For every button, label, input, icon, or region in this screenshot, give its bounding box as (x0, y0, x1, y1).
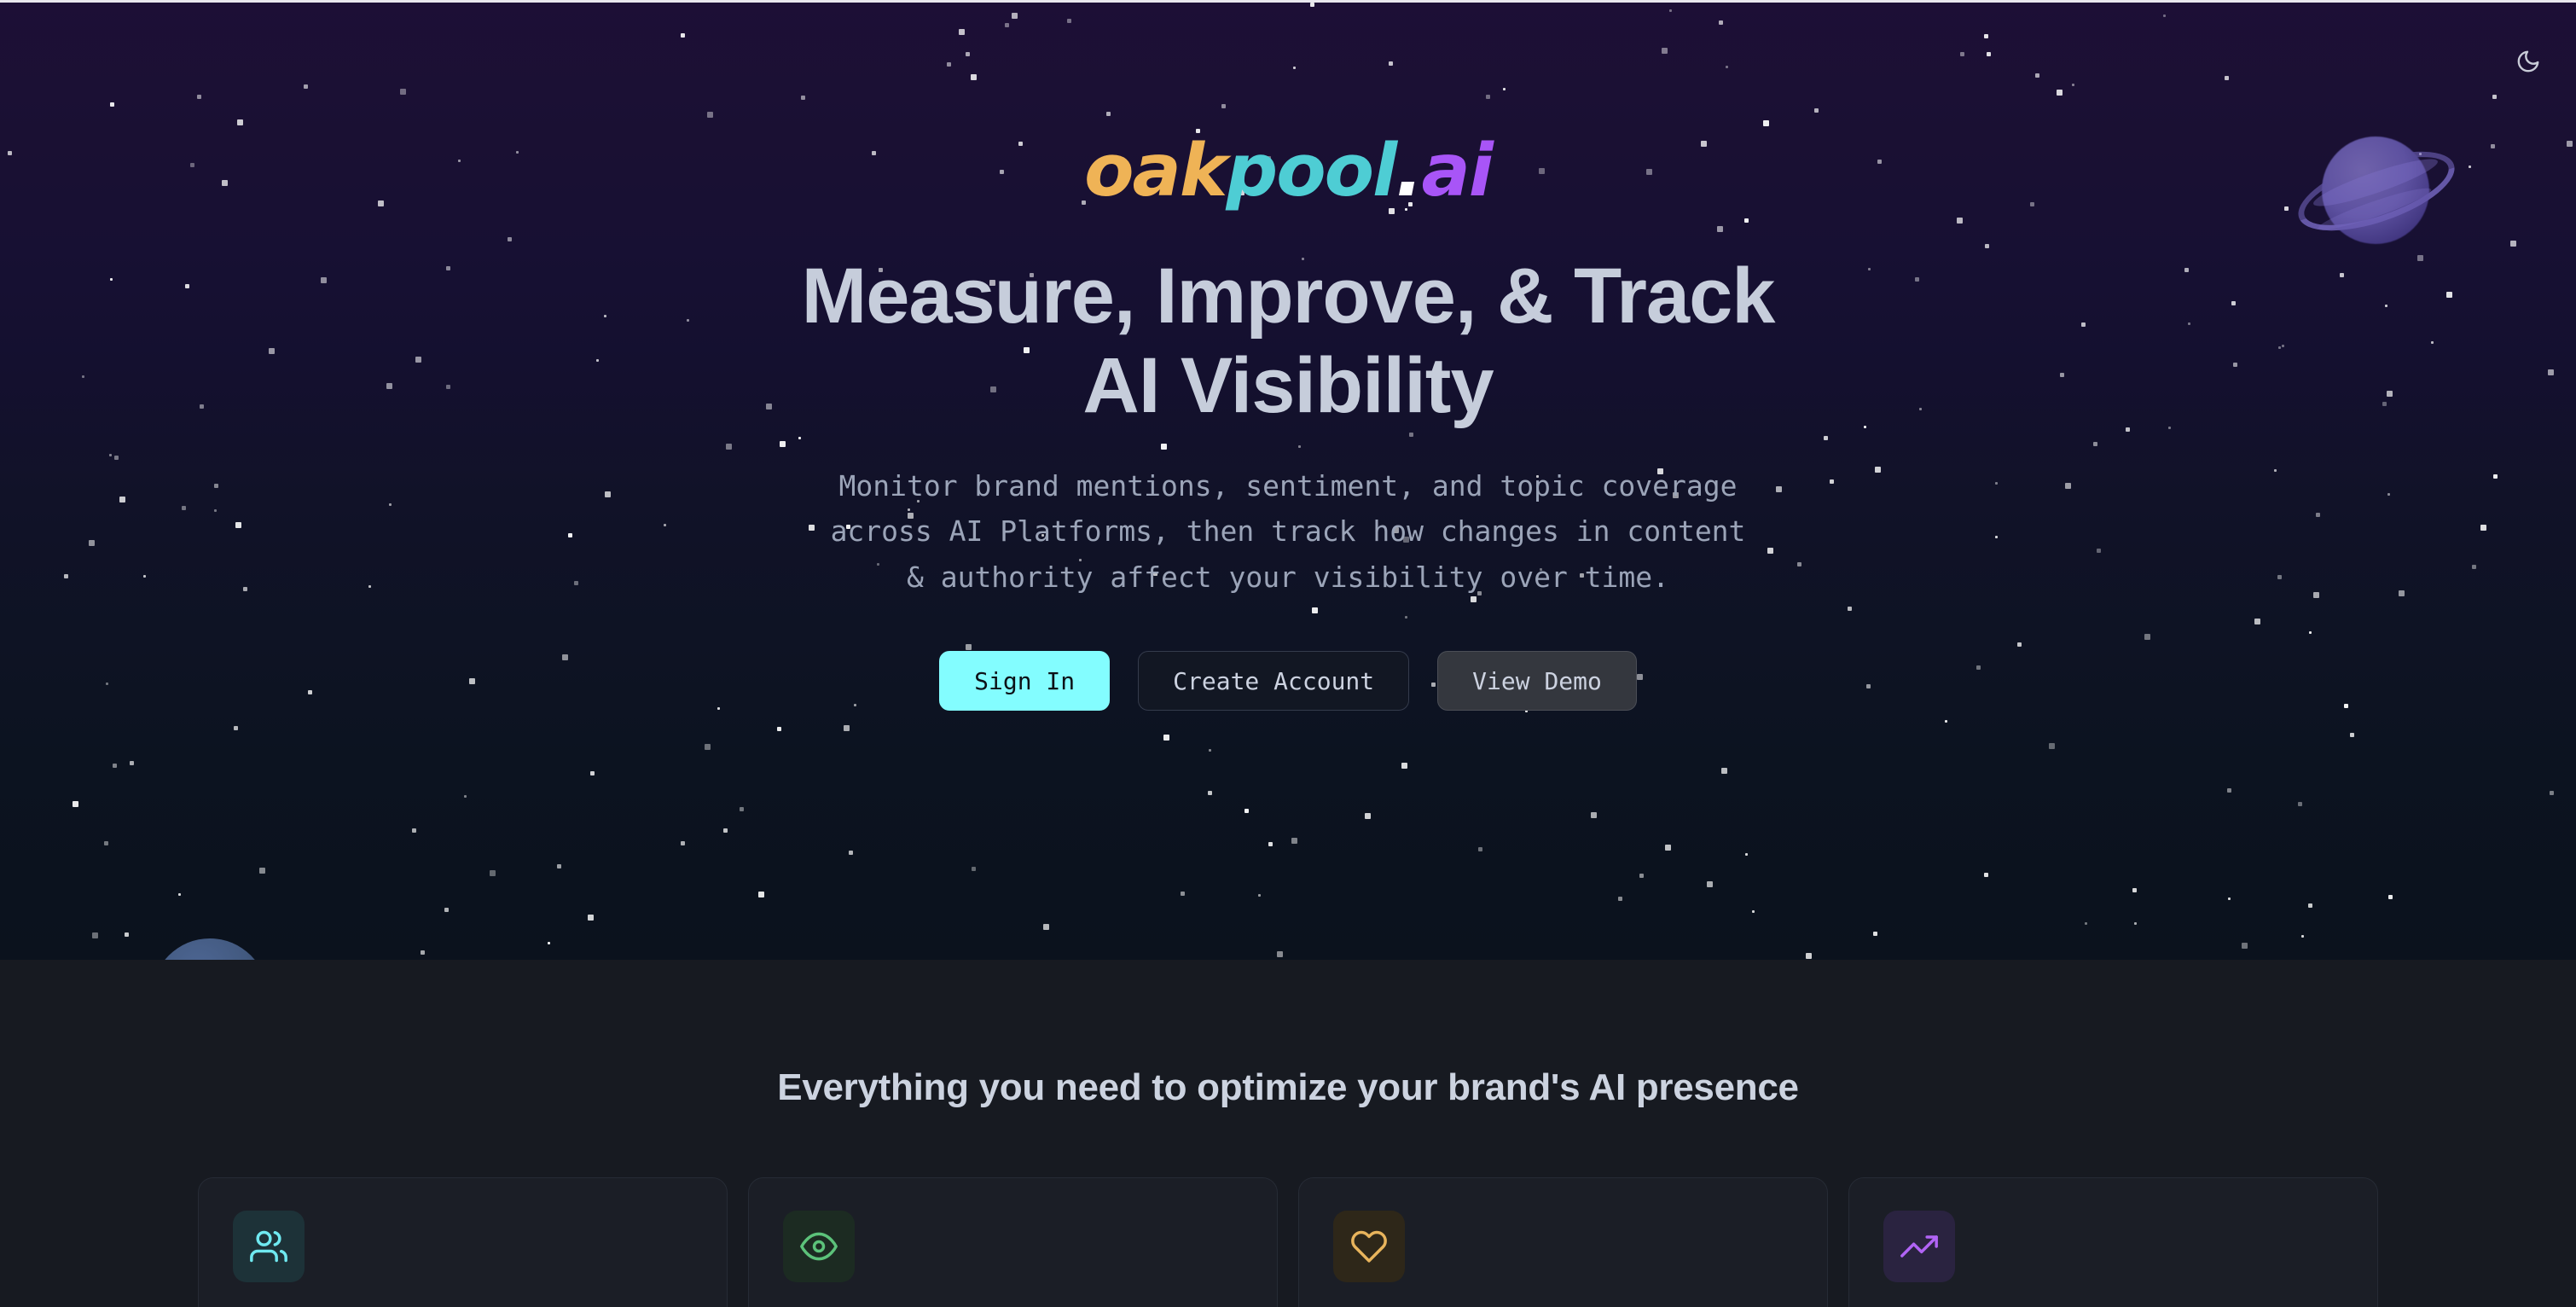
star (844, 725, 850, 731)
subhead-line-1: Monitor brand mentions, sentiment, and t… (838, 469, 1737, 502)
star (1984, 873, 1988, 877)
star (2228, 897, 2231, 900)
star (2298, 802, 2302, 806)
star (2308, 903, 2312, 908)
view-demo-button[interactable]: View Demo (1437, 651, 1637, 711)
heart-icon (1350, 1228, 1388, 1265)
star (1639, 874, 1644, 878)
feature-icon-tile-4 (1883, 1211, 1955, 1282)
star (444, 908, 449, 912)
star (1721, 768, 1727, 774)
star (104, 841, 108, 845)
feature-card-audience[interactable] (198, 1177, 728, 1307)
moon-icon (2515, 49, 2541, 74)
star (1591, 812, 1597, 818)
star (490, 870, 496, 876)
star (1181, 892, 1185, 896)
star (1478, 847, 1482, 851)
star (1401, 763, 1407, 769)
star (1291, 838, 1297, 844)
star (2085, 922, 2087, 925)
star (2388, 895, 2393, 899)
logo-part-dot: . (1395, 129, 1421, 213)
star (125, 932, 129, 937)
feature-card-visibility[interactable] (748, 1177, 1278, 1307)
star (681, 841, 685, 845)
star (705, 744, 711, 750)
star (92, 932, 98, 938)
logo-part-oak: oak (1084, 129, 1226, 213)
star (234, 726, 238, 730)
star (2132, 888, 2137, 892)
star (548, 942, 550, 944)
star (464, 795, 467, 798)
star (178, 893, 181, 896)
star (412, 828, 416, 833)
create-account-button[interactable]: Create Account (1138, 651, 1409, 711)
star (1268, 842, 1273, 846)
star (723, 828, 728, 833)
browser-top-edge (0, 0, 2576, 3)
star (2227, 788, 2231, 793)
landing-page: oakpool.ai Measure, Improve, & Track AI … (0, 0, 2576, 1307)
star (421, 950, 425, 955)
star (1043, 924, 1049, 930)
star (2301, 935, 2304, 938)
logo-part-ai: ai (1421, 129, 1492, 213)
star (73, 801, 78, 807)
star (1209, 749, 1211, 752)
star (588, 915, 594, 921)
star (1618, 897, 1622, 901)
star (1945, 720, 1947, 723)
subhead-line-2: across AI Platforms, then track how chan… (831, 514, 1746, 548)
star (130, 761, 134, 765)
star (1208, 791, 1212, 795)
star (1258, 894, 1261, 897)
hero-section: oakpool.ai Measure, Improve, & Track AI … (0, 0, 2576, 960)
hero-headline: Measure, Improve, & Track AI Visibility (802, 252, 1775, 431)
star (1163, 735, 1169, 741)
feature-icon-tile-3 (1333, 1211, 1405, 1282)
features-section: Everything you need to optimize your bra… (0, 960, 2576, 1307)
star (849, 851, 853, 855)
star (259, 868, 265, 874)
logo-part-pool: pool (1226, 129, 1395, 213)
headline-line-2: AI Visibility (1082, 342, 1493, 429)
star (2242, 943, 2248, 949)
feature-icon-tile-1 (233, 1211, 305, 1282)
star (1745, 853, 1748, 856)
star (1365, 813, 1371, 819)
users-icon (250, 1228, 287, 1265)
star (2049, 743, 2055, 749)
hero-content: oakpool.ai Measure, Improve, & Track AI … (0, 0, 2576, 711)
star (557, 864, 561, 868)
feature-card-sentiment[interactable] (1298, 1177, 1828, 1307)
eye-icon (800, 1228, 838, 1265)
star (1707, 881, 1713, 887)
star (972, 867, 976, 871)
star (590, 771, 595, 775)
star (2134, 922, 2137, 925)
feature-card-trends[interactable] (1848, 1177, 2378, 1307)
star (1277, 951, 1283, 957)
theme-toggle-button[interactable] (2504, 38, 2552, 85)
star (2550, 791, 2554, 795)
star (758, 892, 764, 897)
star (2350, 733, 2354, 737)
star (1665, 845, 1671, 851)
feature-icon-tile-2 (783, 1211, 855, 1282)
star (113, 764, 117, 768)
star (1752, 910, 1755, 913)
star (1806, 953, 1812, 959)
trending-up-icon (1900, 1228, 1938, 1265)
hero-subheadline: Monitor brand mentions, sentiment, and t… (831, 463, 1746, 600)
star (740, 807, 744, 811)
star (777, 727, 781, 731)
headline-line-1: Measure, Improve, & Track (802, 253, 1775, 340)
star (1244, 809, 1249, 813)
sign-in-button[interactable]: Sign In (939, 651, 1110, 711)
star (1873, 932, 1877, 936)
subhead-line-3: & authority affect your visibility over … (907, 561, 1669, 594)
feature-card-grid (0, 1177, 2576, 1307)
brand-logo[interactable]: oakpool.ai (1084, 135, 1492, 207)
features-heading: Everything you need to optimize your bra… (0, 960, 2576, 1109)
hero-cta-row: Sign In Create Account View Demo (939, 651, 1637, 711)
